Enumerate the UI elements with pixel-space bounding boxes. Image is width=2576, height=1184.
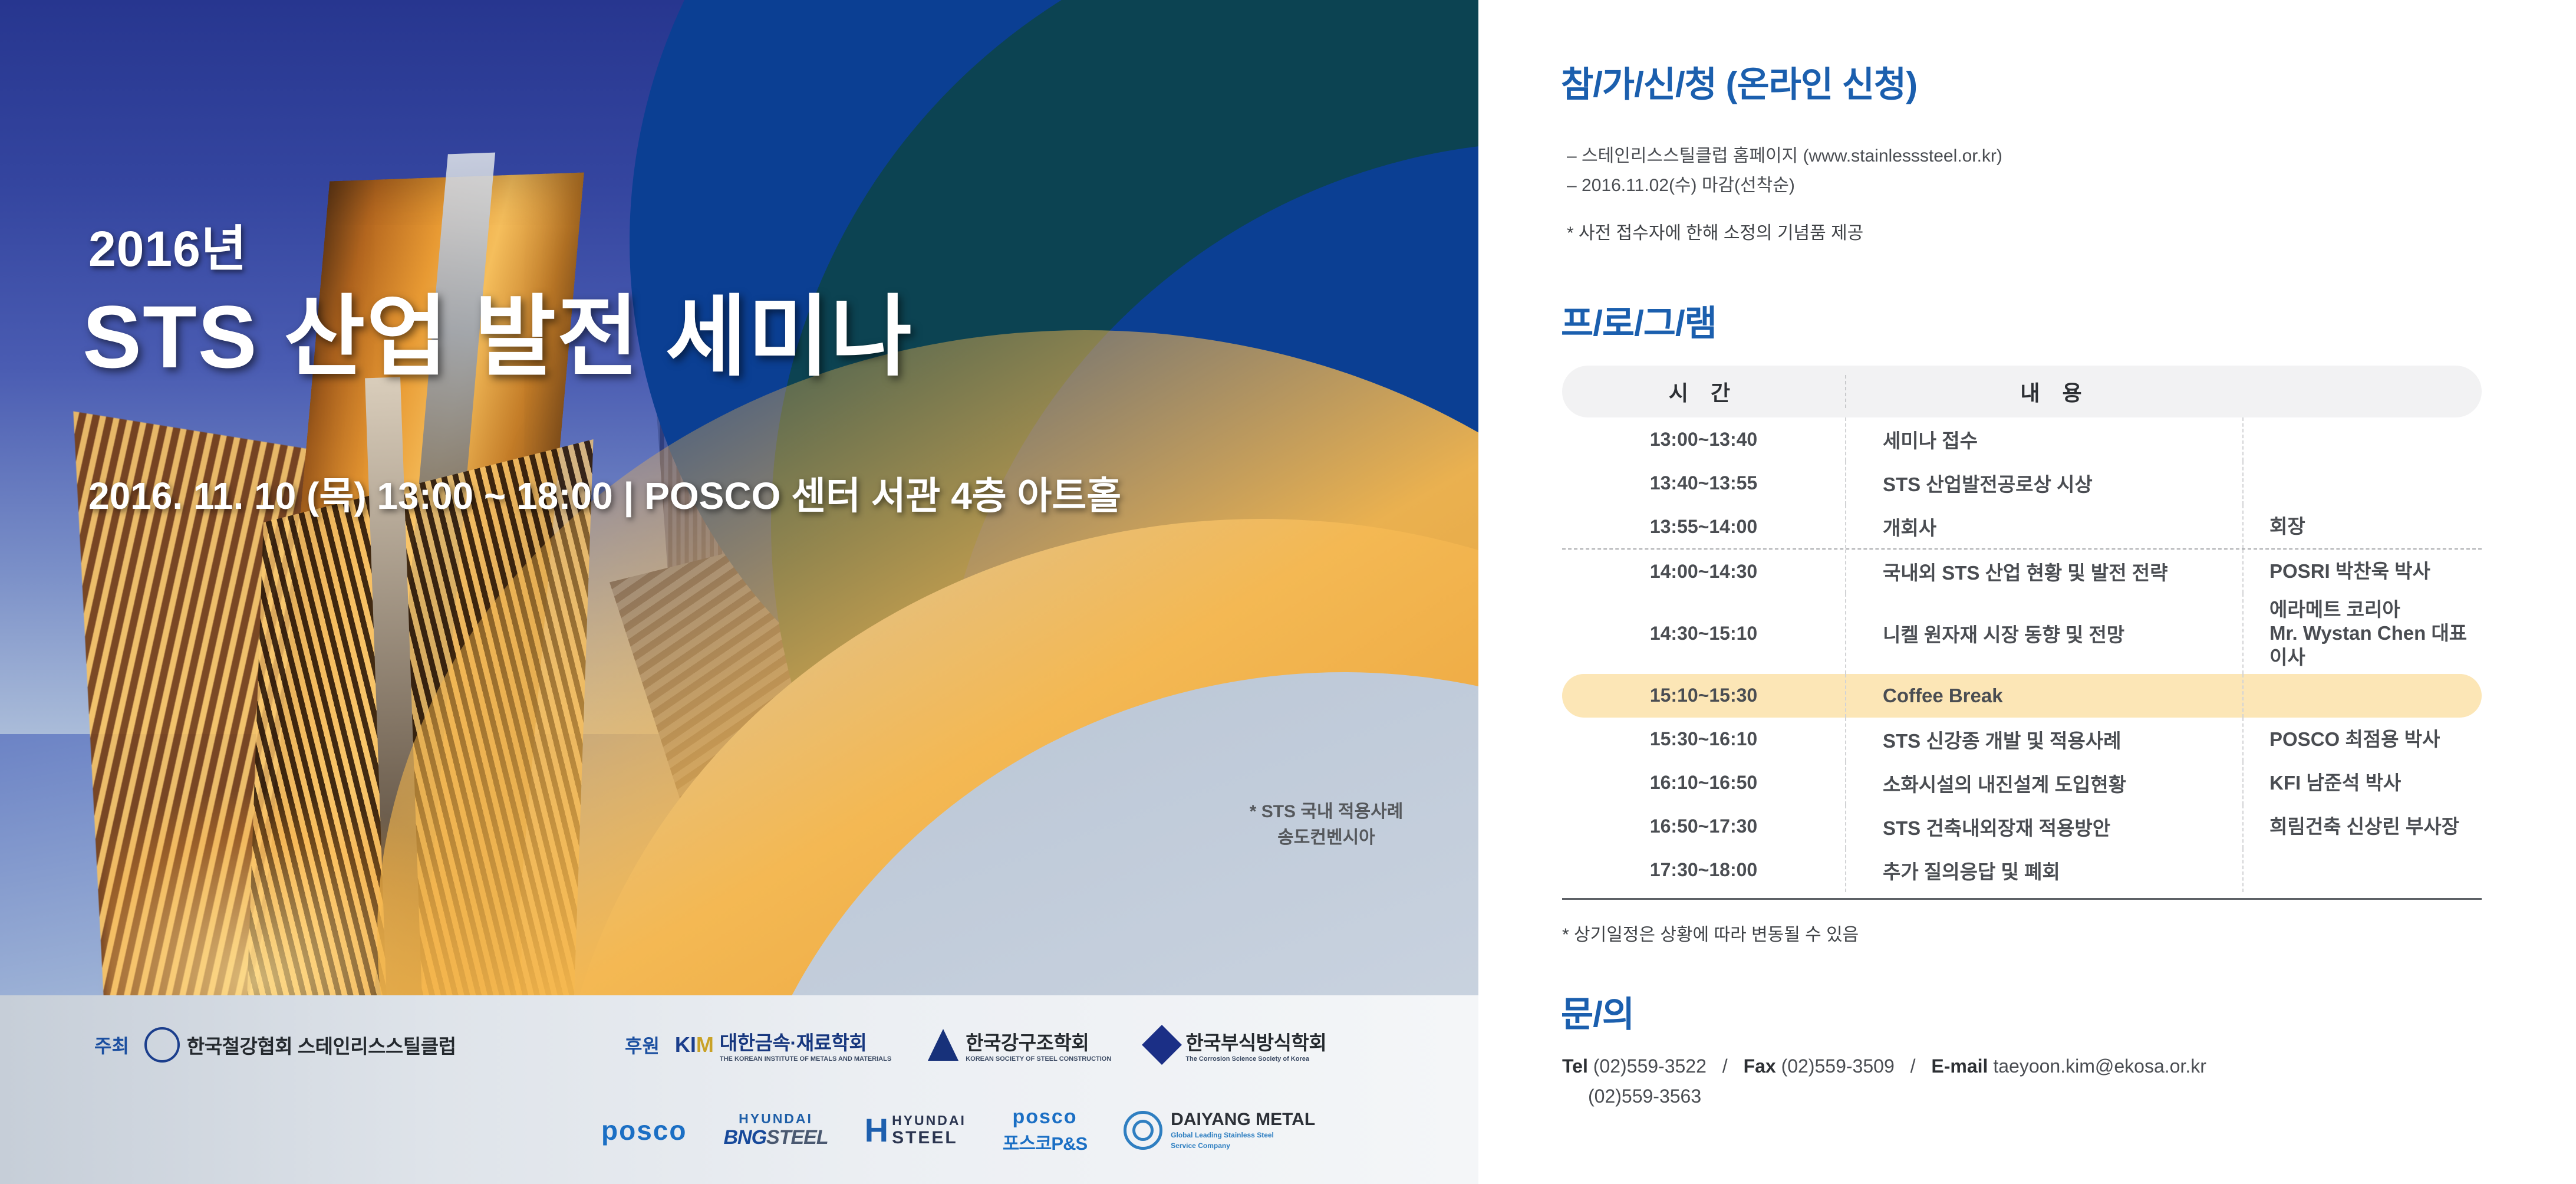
row-title: STS 건축내외장재 적용방안 bbox=[1846, 808, 2242, 846]
kim-logo-icon: KIM bbox=[675, 1032, 714, 1057]
hero-image-panel: 2016년 STS 산업 발전 세미나 2016. 11. 10 (목) 13:… bbox=[0, 0, 1478, 1184]
logo-kosa: 한국철강협회 스테인리스스틸클럽 bbox=[144, 1027, 456, 1063]
apply-bullet-0: – 스테인리스스틸클럽 홈페이지 (www.stainlesssteel.or.… bbox=[1567, 142, 2002, 171]
row-time: 17:30~18:00 bbox=[1562, 854, 1845, 886]
tel-value-secondary[interactable]: (02)559-3563 bbox=[1562, 1086, 2206, 1107]
supporter-3-sub: The Corrosion Science Society of Korea bbox=[1185, 1055, 1326, 1063]
column-header-content: 내 용 bbox=[1847, 376, 2482, 407]
partner-2-name2: BNG bbox=[723, 1126, 766, 1149]
host-label: 주최 bbox=[94, 1031, 129, 1058]
table-row: 13:55~14:00개회사회장 bbox=[1562, 505, 2482, 548]
partner-logo-row: posco HYUNDAI BNGSTEEL H HYUNDAI STEEL p… bbox=[601, 1106, 1352, 1155]
apply-heading: 참/가/신/청 (온라인 신청) bbox=[1561, 56, 1917, 107]
row-time: 16:10~16:50 bbox=[1562, 767, 1845, 798]
table-row: 13:00~13:40세미나 접수 bbox=[1562, 417, 2482, 461]
hero-subtitle: 2016. 11. 10 (목) 13:00 ~ 18:00 | POSCO 센… bbox=[88, 466, 1121, 520]
support-sponsor-row: 후원 KIM 대한금속·재료학회 THE KOREAN INSTITUTE OF… bbox=[625, 1027, 1363, 1063]
fax-value: (02)559-3509 bbox=[1781, 1055, 1895, 1077]
supporter-1-name: 대한금속·재료학회 bbox=[720, 1032, 867, 1054]
row-title: Coffee Break bbox=[1846, 680, 2242, 712]
partner-5-name: DAIYANG METAL bbox=[1171, 1110, 1315, 1129]
apply-note: * 사전 접수자에 한해 소정의 기념품 제공 bbox=[1567, 218, 1863, 244]
row-speaker bbox=[2244, 435, 2482, 444]
fax-label: Fax bbox=[1744, 1055, 1776, 1077]
seminar-poster: 2016년 STS 산업 발전 세미나 2016. 11. 10 (목) 13:… bbox=[0, 0, 2576, 1184]
partner-5-sub2: Service Company bbox=[1171, 1142, 1230, 1150]
table-row: 17:30~18:00추가 질의응답 및 폐회 bbox=[1562, 848, 2482, 892]
daiyang-target-icon bbox=[1124, 1111, 1162, 1150]
row-time: 14:30~15:10 bbox=[1562, 618, 1845, 649]
supporter-3-name: 한국부식방식학회 bbox=[1185, 1032, 1326, 1054]
row-speaker: POSRI 박찬욱 박사 bbox=[2244, 555, 2482, 588]
program-table-body: 13:00~13:40세미나 접수13:40~13:55STS 산업발전공로상 … bbox=[1562, 417, 2482, 892]
table-row: 16:50~17:30STS 건축내외장재 적용방안희림건축 신상린 부사장 bbox=[1562, 805, 2482, 848]
program-heading: 프/로/그/램 bbox=[1561, 295, 1717, 346]
supporter-2-name: 한국강구조학회 bbox=[966, 1032, 1089, 1054]
row-title: 세미나 접수 bbox=[1846, 420, 2242, 458]
cssk-diamond-icon bbox=[1142, 1025, 1182, 1065]
row-time: 15:30~16:10 bbox=[1562, 723, 1845, 755]
sponsor-strip-background bbox=[0, 995, 1478, 1184]
kssc-triangle-icon bbox=[928, 1029, 958, 1061]
partner-2-name: HYUNDAI bbox=[739, 1111, 813, 1126]
page-title: STS 산업 발전 세미나 bbox=[83, 265, 913, 393]
contact-separator-2: / bbox=[1900, 1055, 1926, 1077]
row-title: 추가 질의응답 및 폐회 bbox=[1846, 851, 2242, 889]
table-row: 15:10~15:30Coffee Break bbox=[1562, 674, 2482, 718]
contact-primary-line: Tel (02)559-3522 / Fax (02)559-3509 / E-… bbox=[1562, 1055, 2206, 1077]
row-speaker bbox=[2244, 866, 2482, 875]
table-row: 16:10~16:50소화시설의 내진설계 도입현황KFI 남준석 박사 bbox=[1562, 761, 2482, 805]
table-row: 13:40~13:55STS 산업발전공로상 시상 bbox=[1562, 461, 2482, 505]
partner-4-name: posco bbox=[1012, 1106, 1077, 1128]
table-bottom-rule bbox=[1562, 898, 2482, 900]
row-title: 니켈 원자재 시장 동향 및 전망 bbox=[1846, 614, 2242, 652]
row-time: 13:55~14:00 bbox=[1562, 511, 1845, 542]
contact-heading: 문/의 bbox=[1561, 986, 1634, 1037]
program-table-header: 시 간 내 용 bbox=[1562, 366, 2482, 417]
row-title: STS 신강종 개발 및 적용사례 bbox=[1846, 721, 2242, 758]
partner-2-name3: STEEL bbox=[766, 1126, 828, 1149]
partner-1-name: posco bbox=[601, 1114, 687, 1146]
photo-caption: * STS 국내 적용사례 송도컨벤시아 bbox=[1208, 799, 1444, 850]
row-time: 15:10~15:30 bbox=[1562, 680, 1845, 711]
row-speaker: KFI 남준석 박사 bbox=[2244, 767, 2482, 800]
table-row: 14:30~15:10니켈 원자재 시장 동향 및 전망에라메트 코리아Mr. … bbox=[1562, 593, 2482, 674]
partner-3-name3: STEEL bbox=[892, 1128, 958, 1147]
logo-daiyang-metal: DAIYANG METAL Global Leading Stainless S… bbox=[1124, 1110, 1315, 1151]
email-value[interactable]: taeyoon.kim@ekosa.or.kr bbox=[1993, 1055, 2206, 1077]
table-row: 14:00~14:30국내외 STS 산업 현황 및 발전 전략POSRI 박찬… bbox=[1562, 550, 2482, 593]
row-speaker bbox=[2244, 691, 2482, 700]
photo-caption-line1: * STS 국내 적용사례 bbox=[1208, 799, 1444, 825]
photo-caption-line2: 송도컨벤시아 bbox=[1208, 825, 1444, 851]
logo-hyundai-bng-steel: HYUNDAI BNGSTEEL bbox=[723, 1111, 828, 1149]
tel-label: Tel bbox=[1562, 1055, 1588, 1077]
supporter-2-sub: KOREAN SOCIETY OF STEEL CONSTRUCTION bbox=[966, 1055, 1111, 1063]
row-title: 개회사 bbox=[1846, 508, 2242, 545]
email-label: E-mail bbox=[1931, 1055, 1988, 1077]
partner-3-name2: HYUNDAI bbox=[892, 1113, 966, 1128]
support-label: 후원 bbox=[625, 1031, 660, 1058]
row-time: 16:50~17:30 bbox=[1562, 811, 1845, 842]
row-time: 13:00~13:40 bbox=[1562, 424, 1845, 455]
row-time: 14:00~14:30 bbox=[1562, 556, 1845, 587]
row-title: 소화시설의 내진설계 도입현황 bbox=[1846, 764, 2242, 802]
logo-posco-pns: posco 포스코P&S bbox=[1003, 1106, 1087, 1155]
host-name: 한국철강협회 스테인리스스틸클럽 bbox=[187, 1031, 456, 1059]
row-speaker: POSCO 최점용 박사 bbox=[2244, 723, 2482, 756]
table-row: 15:30~16:10STS 신강종 개발 및 적용사례POSCO 최점용 박사 bbox=[1562, 718, 2482, 761]
logo-hyundai-steel: H HYUNDAI STEEL bbox=[865, 1113, 966, 1147]
supporter-1-sub: THE KOREAN INSTITUTE OF METALS AND MATER… bbox=[720, 1055, 891, 1063]
row-speaker: 회장 bbox=[2244, 510, 2482, 543]
tel-value[interactable]: (02)559-3522 bbox=[1593, 1055, 1707, 1077]
logo-kim: KIM 대한금속·재료학회 THE KOREAN INSTITUTE OF ME… bbox=[675, 1027, 891, 1063]
column-header-time: 시 간 bbox=[1562, 376, 1845, 407]
row-speaker: 희림건축 신상린 부사장 bbox=[2244, 810, 2482, 843]
partner-4-name2: 포스코P&S bbox=[1003, 1133, 1087, 1154]
row-title: STS 산업발전공로상 시상 bbox=[1846, 464, 2242, 502]
row-speaker bbox=[2244, 478, 2482, 488]
logo-cssk: 한국부식방식학회 The Corrosion Science Society o… bbox=[1148, 1027, 1326, 1063]
hyundai-steel-h-icon: H bbox=[865, 1116, 888, 1145]
program-footnote: * 상기일정은 상황에 따라 변동될 수 있음 bbox=[1562, 920, 2482, 946]
contact-separator-1: / bbox=[1712, 1055, 1738, 1077]
info-panel: 참/가/신/청 (온라인 신청) – 스테인리스스틸클럽 홈페이지 (www.s… bbox=[1478, 0, 2576, 1184]
apply-bullet-1: – 2016.11.02(수) 마감(선착순) bbox=[1567, 171, 2002, 200]
host-sponsor-row: 주최 한국철강협회 스테인리스스틸클럽 bbox=[94, 1027, 492, 1063]
kosa-seal-icon bbox=[144, 1027, 180, 1063]
row-title: 국내외 STS 산업 현황 및 발전 전략 bbox=[1846, 552, 2242, 590]
row-time: 13:40~13:55 bbox=[1562, 468, 1845, 499]
partner-5-sub1: Global Leading Stainless Steel bbox=[1171, 1131, 1274, 1139]
program-table: 시 간 내 용 13:00~13:40세미나 접수13:40~13:55STS … bbox=[1562, 366, 2482, 946]
logo-posco: posco bbox=[601, 1114, 687, 1146]
row-speaker: 에라메트 코리아Mr. Wystan Chen 대표이사 bbox=[2244, 593, 2482, 674]
logo-kssc: 한국강구조학회 KOREAN SOCIETY OF STEEL CONSTRUC… bbox=[928, 1027, 1111, 1063]
